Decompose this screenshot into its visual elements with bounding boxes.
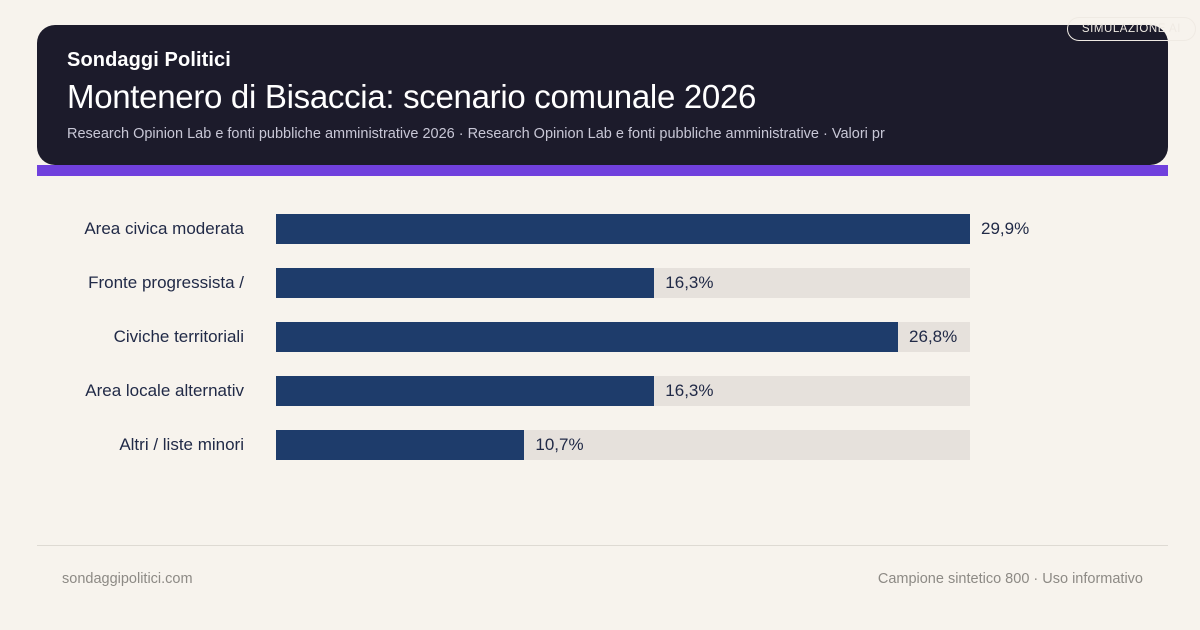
table-row: Fronte progressista / 16,3% — [0, 256, 1200, 310]
bar-value-label: 16,3% — [654, 268, 713, 298]
table-row: Altri / liste minori 10,7% — [0, 418, 1200, 472]
bar-track-wrapper: 26,8% — [276, 322, 970, 352]
table-row: Area civica moderata 29,9% — [0, 202, 1200, 256]
bar-track-wrapper: 29,9% — [276, 214, 970, 244]
bar-category-label: Altri / liste minori — [0, 435, 244, 455]
footer: sondaggipolitici.com Campione sintetico … — [37, 545, 1168, 611]
table-row: Area locale alternativ 16,3% — [0, 364, 1200, 418]
bar-value-label: 10,7% — [524, 430, 583, 460]
status-badge: SIMULAZIONE AI — [1067, 17, 1196, 41]
bar-value-label: 29,9% — [970, 214, 1029, 244]
bar-fill — [276, 430, 524, 460]
header-wrapper: Sondaggi Politici Montenero di Bisaccia:… — [37, 25, 1168, 165]
bar-category-label: Area civica moderata — [0, 219, 244, 239]
bar-fill — [276, 268, 654, 298]
bar-category-label: Fronte progressista / — [0, 273, 244, 293]
bar-value-label: 26,8% — [898, 322, 957, 352]
bar-track-wrapper: 16,3% — [276, 376, 970, 406]
page-subtitle: Research Opinion Lab e fonti pubbliche a… — [67, 124, 1097, 144]
bar-value-label: 16,3% — [654, 376, 713, 406]
bar-fill — [276, 322, 898, 352]
page-title: Montenero di Bisaccia: scenario comunale… — [67, 76, 1138, 118]
footer-disclaimer: Campione sintetico 800 · Uso informativo — [878, 571, 1143, 587]
footer-spacer — [0, 611, 1200, 630]
poster-root: Sondaggi Politici Montenero di Bisaccia:… — [0, 0, 1200, 630]
header-card: Sondaggi Politici Montenero di Bisaccia:… — [37, 25, 1168, 165]
bar-fill — [276, 214, 970, 244]
bar-fill — [276, 376, 654, 406]
bar-chart: Area civica moderata 29,9% Fronte progre… — [0, 176, 1200, 545]
brand-name: Sondaggi Politici — [67, 47, 1138, 74]
accent-divider — [37, 165, 1168, 176]
table-row: Civiche territoriali 26,8% — [0, 310, 1200, 364]
bar-track-wrapper: 16,3% — [276, 268, 970, 298]
footer-site-url: sondaggipolitici.com — [62, 571, 193, 587]
bar-track-wrapper: 10,7% — [276, 430, 970, 460]
bar-category-label: Area locale alternativ — [0, 381, 244, 401]
bar-category-label: Civiche territoriali — [0, 327, 244, 347]
